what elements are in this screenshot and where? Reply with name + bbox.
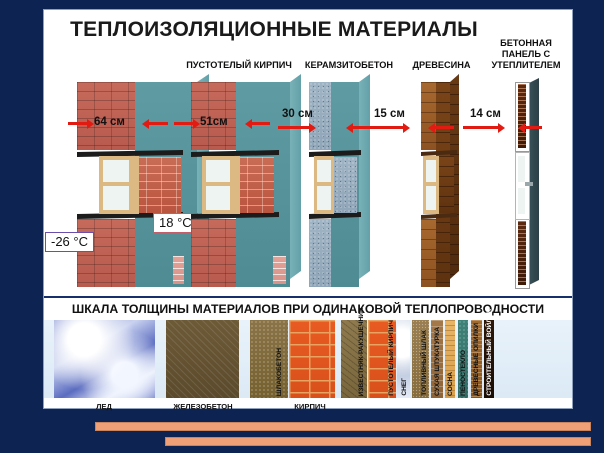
dimension-hollow-brick: 51см	[172, 117, 272, 131]
scale-vlabel-sawdust: ДРЕВЕСНЫЕ ОПИЛКИ	[473, 323, 481, 396]
poster-panel: ТЕПЛОИЗОЛЯЦИОННЫЕ МАТЕРИАЛЫ ПУСТОТЕЛЫЙ К…	[44, 10, 572, 408]
scale-swatch-fuel-slag: ТОПЛИВНЫЙ ШЛАК	[412, 320, 429, 398]
decor-bar-upper	[95, 422, 591, 431]
scale-vlabel-fuel-slag: ТОПЛИВНЫЙ ШЛАК	[421, 330, 429, 396]
scale-swatch-brick	[289, 320, 335, 398]
scale-swatch-sawdust: ДРЕВЕСНЫЕ ОПИЛКИ	[471, 320, 482, 398]
scale-swatch-snow: СНЕГ	[397, 320, 410, 398]
outer-leaf-wood-bottom	[421, 219, 436, 287]
dimension-concrete-panel: 14 см	[461, 112, 553, 126]
dimension-label-concrete: 14 см	[470, 108, 501, 120]
window-glass-lower-wood	[426, 186, 436, 210]
dimension-arrow-left-wood	[368, 126, 404, 129]
scale-hlabel-reinforced-concrete: ЖЕЛЕЗОБЕТОН	[162, 402, 244, 411]
dimension-wood: 15 см	[366, 112, 462, 126]
window-glass-upper-brick	[103, 160, 129, 182]
scale-hlabel-brick: КИРПИЧ	[274, 402, 346, 411]
dimension-label-wood: 15 см	[374, 108, 405, 120]
scale-swatch-dry-plaster: СУХАЯ ШТУКАТУРКА	[431, 320, 443, 398]
window-glass-upper-keramzit	[317, 160, 331, 182]
window-mullion-concrete	[525, 182, 533, 186]
column-heading-keramzit: КЕРАМЗИТОБЕТОН	[294, 60, 404, 71]
window-jamb-hollow	[234, 156, 240, 214]
column-heading-concrete-panel-line1: БЕТОННАЯ	[482, 38, 570, 49]
dimension-label-brick: 64 см	[94, 116, 125, 128]
material-sample-block-brick	[173, 256, 184, 284]
inner-leaf-edge-keramzit	[359, 74, 370, 279]
window-glass-lower-brick	[103, 186, 129, 210]
scale-vlabel-pine: СОСНА	[447, 372, 455, 396]
scale-swatch-pine: СОСНА	[445, 320, 455, 398]
material-sample-block-hollow	[273, 256, 286, 284]
dimension-arrow-left-hollow	[174, 122, 194, 125]
outer-leaf-brick-bottom	[77, 219, 135, 287]
scale-swatch-ice	[54, 320, 155, 398]
dimension-label-keramzit: 30 см	[282, 108, 313, 120]
dimension-arrow-right-wood	[434, 126, 454, 129]
dimension-arrow-right-hollow	[251, 122, 270, 125]
poster-stage: ТЕПЛОИЗОЛЯЦИОННЫЕ МАТЕРИАЛЫ ПУСТОТЕЛЫЙ К…	[0, 0, 604, 453]
scale-swatch-building-felt: СТРОИТЕЛЬНЫЙ ВОЙЛОК	[484, 320, 494, 398]
scale-vlabel-building-felt: СТРОИТЕЛЬНЫЙ ВОЙЛОК	[486, 309, 494, 396]
scale-vlabel-snow: СНЕГ	[401, 378, 409, 396]
scale-vlabel-hollow-brick: ПУСТОТЕЛЫЙ КИРПИЧ	[388, 320, 396, 396]
scale-divider	[44, 296, 572, 298]
scale-swatch-reinforced-concrete	[166, 320, 239, 398]
scale-strip-area: ШЛАКОБЕТОН ИЗВЕСТНЯК-РАКУШЕЧНИК ПУСТОТЕЛ…	[44, 320, 572, 398]
window-glass-lower-keramzit	[317, 186, 331, 210]
scale-swatch-shell-limestone: ИЗВЕСТНЯК-РАКУШЕЧНИК	[341, 320, 367, 398]
scale-vlabel-dry-plaster: СУХАЯ ШТУКАТУРКА	[434, 327, 442, 396]
window-glass-upper-wood	[426, 160, 436, 182]
dimension-arrow-right-concrete	[524, 126, 542, 129]
dimension-keramzit: 30 см	[276, 112, 374, 126]
outer-leaf-hollow-bottom	[191, 219, 236, 287]
scale-vlabel-shell-limestone: ИЗВЕСТНЯК-РАКУШЕЧНИК	[358, 308, 366, 396]
window-glass-upper-concrete	[518, 156, 525, 182]
scale-swatch-foam-glass: ПЕНОСТЕКЛО	[458, 320, 468, 398]
scale-swatch-slag-concrete: ШЛАКОБЕТОН	[250, 320, 288, 398]
window-glass-lower-hollow	[206, 186, 230, 210]
scale-vlabel-slag-concrete: ШЛАКОБЕТОН	[276, 348, 284, 396]
scale-vlabel-foam-glass: ПЕНОСТЕКЛО	[460, 350, 468, 396]
dimension-brick: 64 см	[64, 117, 169, 131]
inner-leaf-edge-hollow	[290, 74, 301, 279]
page-title: ТЕПЛОИЗОЛЯЦИОННЫЕ МАТЕРИАЛЫ	[54, 18, 494, 42]
scale-hlabel-ice: ЛЕД	[64, 402, 144, 411]
scale-swatch-hollow-brick: ПУСТОТЕЛЫЙ КИРПИЧ	[368, 320, 396, 398]
dimension-label-hollow: 51см	[200, 116, 228, 128]
dimension-arrow-left-brick	[68, 122, 88, 125]
window-jamb-brick	[133, 156, 139, 214]
temperature-outside-badge: -26 °C	[45, 232, 94, 252]
dimension-arrow-left-keramzit	[278, 126, 310, 129]
window-glass-upper-hollow	[206, 160, 230, 182]
dimension-arrow-left-concrete	[463, 126, 499, 129]
outer-leaf-keramzit-bottom	[309, 219, 331, 287]
column-heading-concrete-panel-line3: УТЕПЛИТЕЛЕМ	[482, 60, 570, 71]
window-glass-lower-concrete	[518, 188, 525, 214]
panel-insulation-bottom	[518, 221, 526, 285]
column-heading-wood: ДРЕВЕСИНА	[399, 60, 484, 71]
column-heading-concrete-panel-line2: ПАНЕЛЬ С	[482, 49, 570, 60]
decor-bar-lower	[165, 437, 591, 446]
reveal-keramzit	[331, 157, 357, 213]
column-heading-hollow-brick: ПУСТОТЕЛЫЙ КИРПИЧ	[174, 60, 304, 71]
dimension-arrow-right-brick	[148, 122, 168, 125]
